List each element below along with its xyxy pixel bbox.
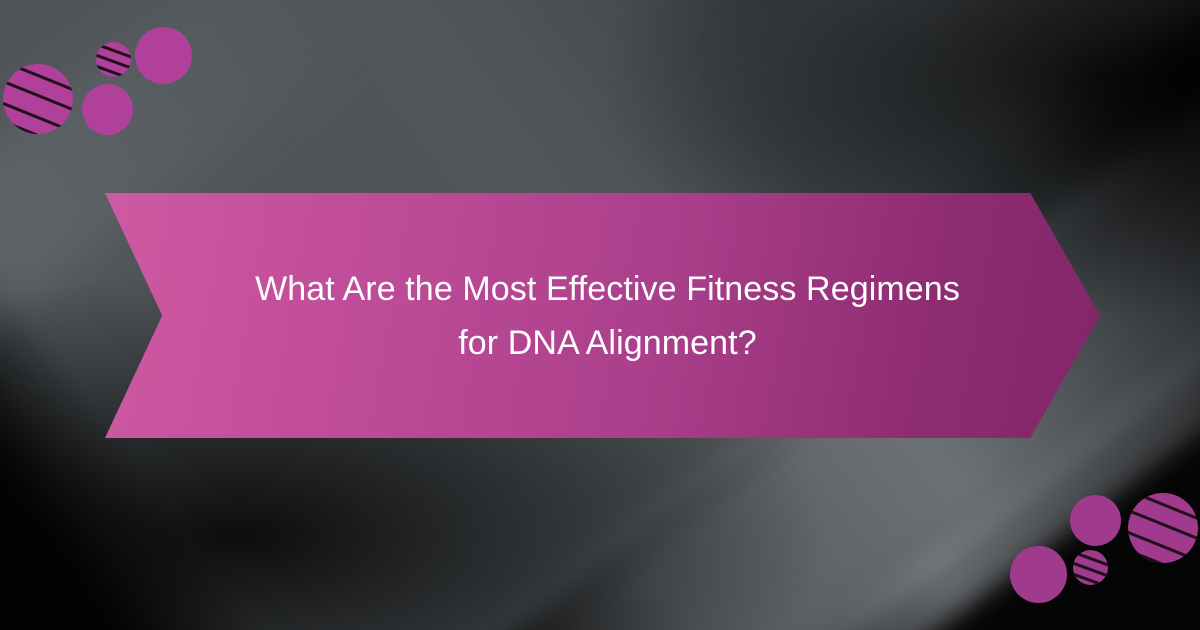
decor-large-solid-circle-bottom-right — [1010, 546, 1067, 603]
decor-medium-solid-circle-top-left — [82, 84, 133, 135]
decor-large-solid-circle-top-left — [135, 27, 192, 84]
decor-medium-solid-circle-bottom-right — [1070, 495, 1121, 546]
decor-large-striped-circle-bottom-right — [1128, 493, 1198, 563]
decor-small-striped-circle-bottom-right — [1073, 550, 1108, 585]
decor-small-striped-circle-top-left — [96, 42, 131, 77]
headline-ribbon: What Are the Most Effective Fitness Regi… — [105, 193, 1100, 438]
headline-text: What Are the Most Effective Fitness Regi… — [198, 262, 1018, 370]
social-card-canvas: What Are the Most Effective Fitness Regi… — [0, 0, 1200, 630]
decor-large-striped-circle-top-left — [3, 64, 73, 134]
